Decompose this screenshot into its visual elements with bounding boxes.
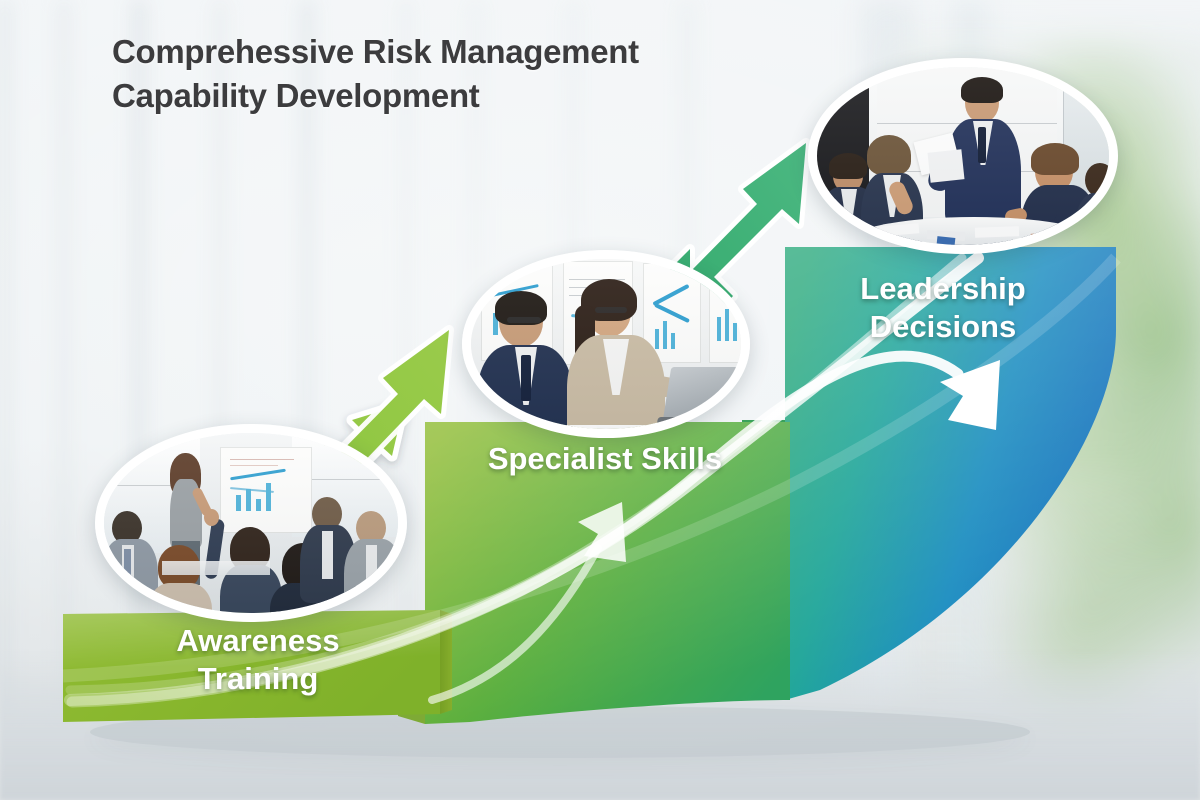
step-label-specialist-skills[interactable]: Specialist Skills [455, 440, 755, 478]
photo-awareness-training[interactable] [95, 424, 407, 622]
photo-specialist-skills[interactable] [462, 250, 750, 438]
photo-leadership-decisions[interactable] [808, 58, 1118, 254]
infographic-canvas: Comprehessive Risk Management Capability… [0, 0, 1200, 800]
page-title: Comprehessive Risk Management Capability… [112, 30, 752, 118]
step-label-awareness-training[interactable]: Awareness Training [108, 622, 408, 698]
step-label-awareness-line1: Awareness [108, 622, 408, 660]
step-label-leadership-line2: Decisions [818, 308, 1068, 346]
step-label-specialist-line1: Specialist Skills [455, 440, 755, 478]
page-title-line-1: Comprehessive Risk Management [112, 30, 752, 74]
step-label-awareness-line2: Training [108, 660, 408, 698]
step-label-leadership-line1: Leadership [818, 270, 1068, 308]
page-title-line-2: Capability Development [112, 74, 752, 118]
step-label-leadership-decisions[interactable]: Leadership Decisions [818, 270, 1068, 346]
